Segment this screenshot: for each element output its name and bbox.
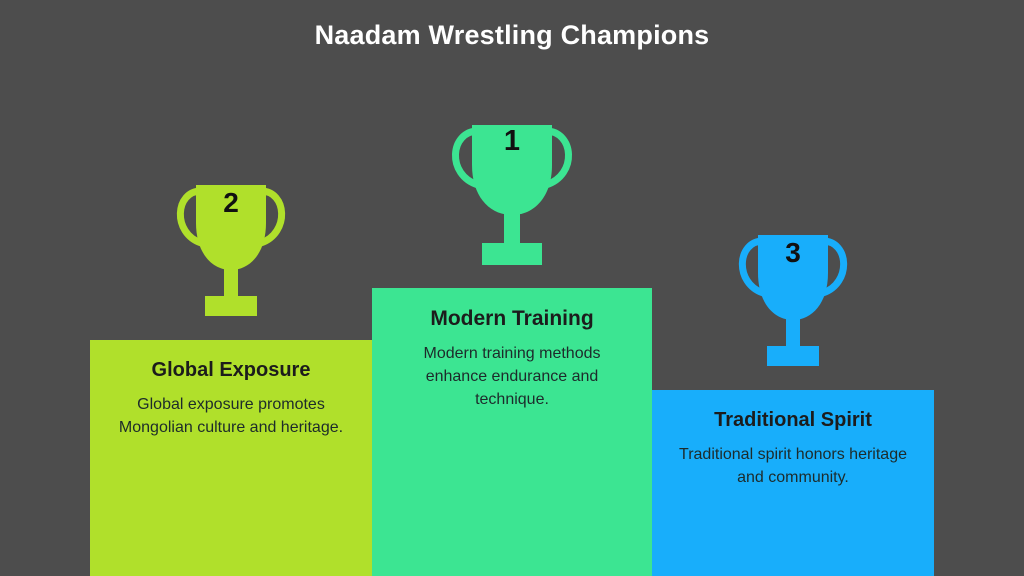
podium-description-third: Traditional spirit honors heritage and c… <box>678 444 908 489</box>
trophy-first-icon: 1 <box>422 103 602 288</box>
trophy-third-icon: 3 <box>713 217 873 390</box>
podium-heading-first: Modern Training <box>398 306 626 331</box>
podium-description-second: Global exposure promotes Mongolian cultu… <box>116 394 346 439</box>
podium-description-first: Modern training methods enhance enduranc… <box>398 343 626 411</box>
podium-block-third: Traditional Spirit Traditional spirit ho… <box>652 390 934 576</box>
trophy-second-icon: 2 <box>151 167 311 340</box>
podium-block-second: Global Exposure Global exposure promotes… <box>90 340 372 576</box>
infographic-canvas: Naadam Wrestling Champions 1 Modern Trai… <box>0 0 1024 576</box>
podium-block-first: Modern Training Modern training methods … <box>372 288 652 576</box>
podium-heading-third: Traditional Spirit <box>678 408 908 432</box>
page-title: Naadam Wrestling Champions <box>0 20 1024 51</box>
podium-heading-second: Global Exposure <box>116 358 346 382</box>
